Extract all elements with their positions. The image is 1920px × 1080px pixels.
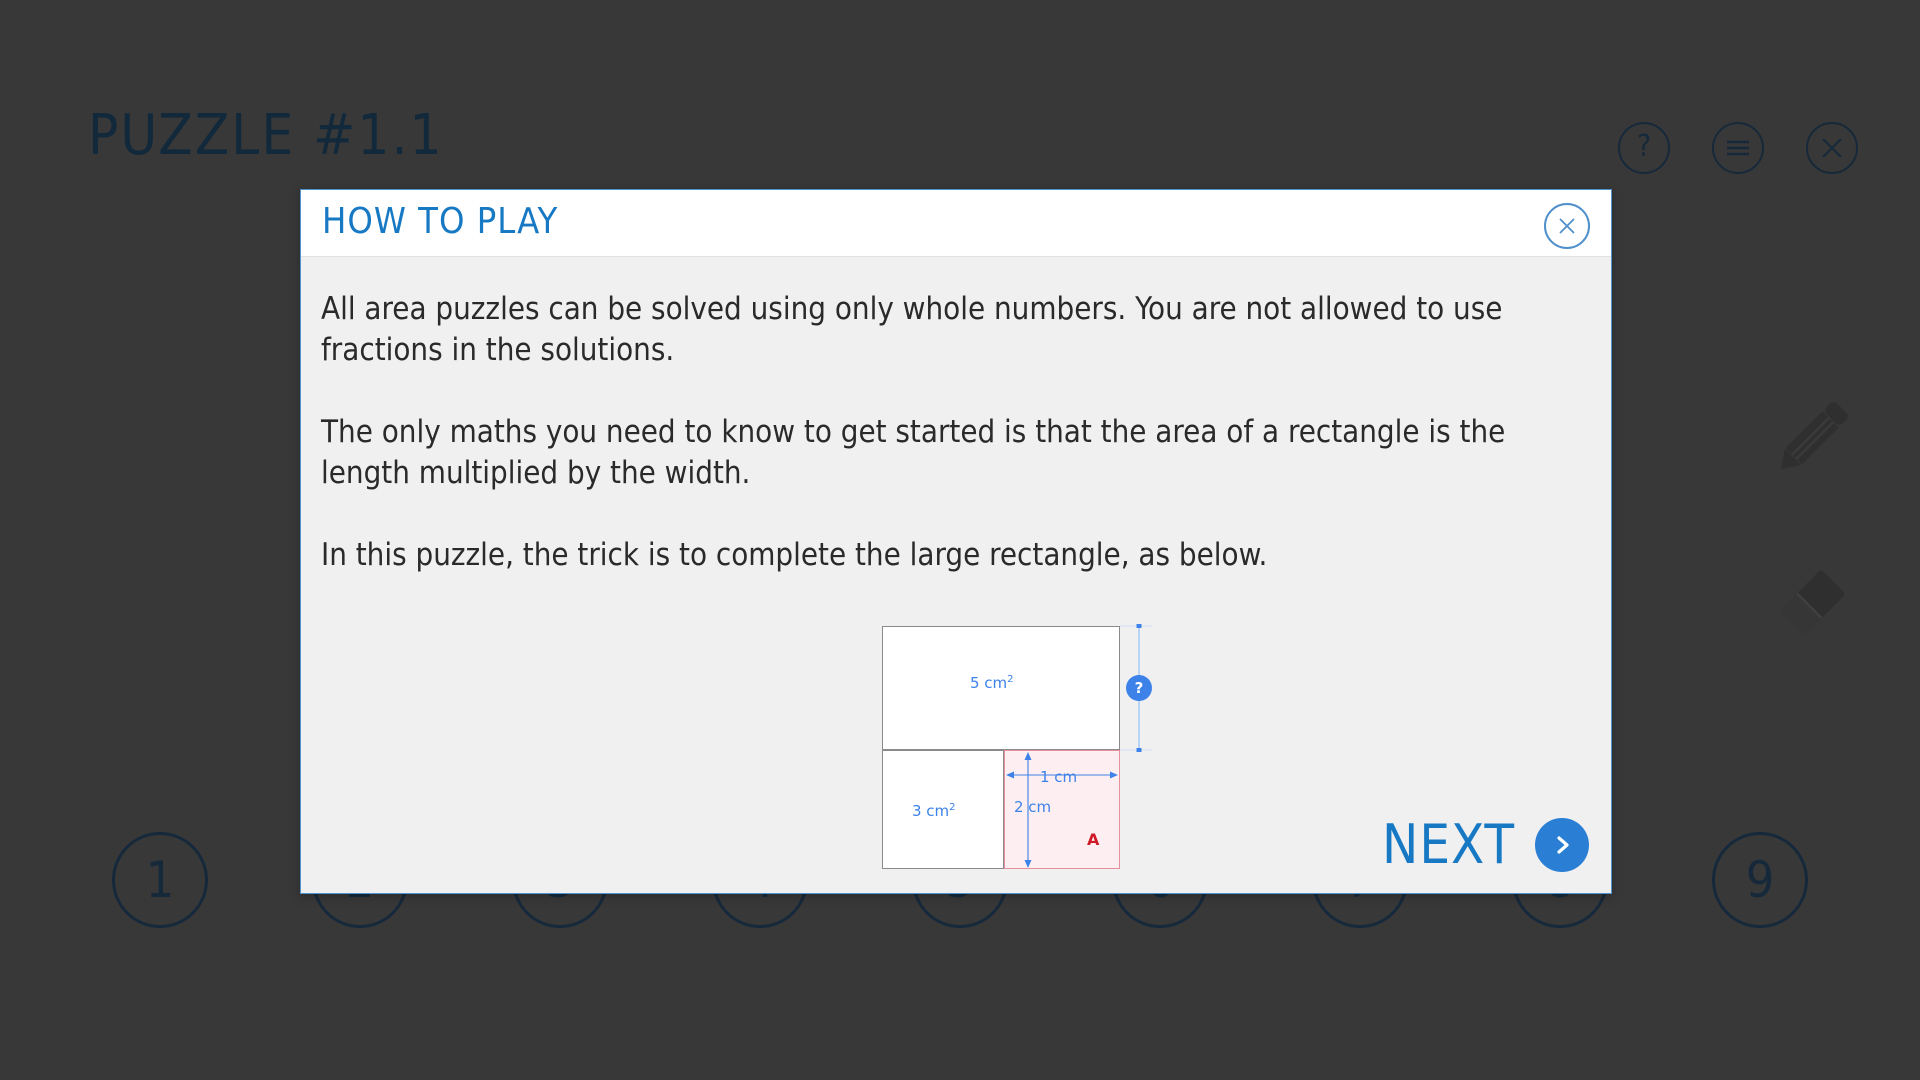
diagram-label-bottom-left-area-exponent: 2: [949, 802, 955, 813]
example-diagram: 5 cm2 3 cm2 1 cm 2 cm A ?: [862, 618, 1162, 878]
eraser-icon[interactable]: [1765, 555, 1860, 650]
page-title: PUZZLE #1.1: [88, 108, 443, 164]
instruction-paragraph-2: The only maths you need to know to get s…: [321, 412, 1551, 494]
menu-icon[interactable]: [1712, 122, 1764, 174]
diagram-label-bottom-left-area: 3 cm2: [912, 802, 956, 820]
dialog-title: HOW TO PLAY: [322, 200, 558, 243]
number-button-1[interactable]: 1: [112, 832, 208, 928]
instruction-paragraph-1: All area puzzles can be solved using onl…: [321, 289, 1551, 371]
dialog-header: HOW TO PLAY: [301, 190, 1611, 257]
dialog-body: All area puzzles can be solved using onl…: [301, 257, 1611, 894]
next-button-label: NEXT: [1382, 818, 1515, 872]
help-icon[interactable]: ?: [1618, 122, 1670, 174]
help-icon-glyph: ?: [1637, 132, 1651, 162]
diagram-label-bottom-left-area-text: 3 cm: [912, 802, 949, 820]
diagram-label-region-a: A: [1087, 830, 1099, 849]
instruction-paragraph-3: In this puzzle, the trick is to complete…: [321, 535, 1551, 576]
number-button-9[interactable]: 9: [1712, 832, 1808, 928]
how-to-play-dialog: HOW TO PLAY All area puzzles can be solv…: [300, 189, 1612, 894]
pencil-icon[interactable]: [1765, 390, 1860, 485]
dialog-close-icon[interactable]: [1544, 203, 1590, 249]
diagram-label-height: 2 cm: [1014, 798, 1051, 816]
close-icon[interactable]: [1806, 122, 1858, 174]
diagram-label-top-area: 5 cm2: [970, 674, 1014, 692]
game-screen: PUZZLE #1.1 ?: [0, 0, 1920, 1080]
diagram-label-top-area-text: 5 cm: [970, 674, 1007, 692]
next-button[interactable]: NEXT: [1382, 818, 1589, 872]
diagram-unknown-badge[interactable]: ?: [1126, 675, 1152, 701]
diagram-label-top-area-exponent: 2: [1007, 674, 1013, 685]
diagram-label-width: 1 cm: [1040, 768, 1077, 786]
chevron-right-icon[interactable]: [1535, 818, 1589, 872]
topbar-icon-group: ?: [1618, 122, 1858, 174]
